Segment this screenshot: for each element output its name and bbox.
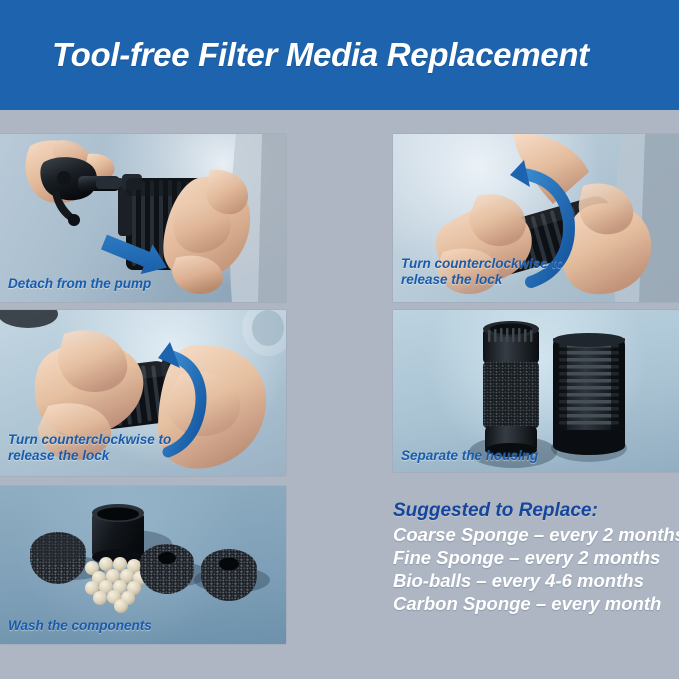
caption-wash: Wash the components bbox=[8, 618, 152, 634]
step-panel-turn-top: Turn counterclockwise to release the loc… bbox=[393, 134, 679, 302]
suggested-replace-heading: Suggested to Replace: bbox=[393, 498, 679, 523]
bio-balls bbox=[85, 557, 147, 613]
caption-turn-top: Turn counterclockwise to release the loc… bbox=[401, 256, 564, 288]
step-panel-detach: Detach from the pump bbox=[0, 134, 286, 302]
replace-item-fine-sponge: Fine Sponge – every 2 months bbox=[393, 546, 679, 569]
caption-separate: Separate the housing bbox=[401, 448, 538, 464]
step-panel-wash: Wash the components bbox=[0, 486, 286, 644]
fine-sponge bbox=[140, 544, 194, 594]
carbon-sponge bbox=[201, 549, 257, 601]
carbon-cup bbox=[92, 504, 144, 565]
header-banner: Tool-free Filter Media Replacement bbox=[0, 0, 679, 110]
replace-item-coarse-sponge: Coarse Sponge – every 2 months bbox=[393, 523, 679, 546]
caption-detach: Detach from the pump bbox=[8, 276, 151, 292]
page-title: Tool-free Filter Media Replacement bbox=[52, 36, 589, 74]
replace-item-bio-balls: Bio-balls – every 4-6 months bbox=[393, 569, 679, 592]
coarse-sponge bbox=[30, 532, 86, 584]
step-panel-turn-left: Turn counterclockwise to release the loc… bbox=[0, 310, 286, 476]
infographic-page: Tool-free Filter Media Replacement bbox=[0, 0, 679, 679]
replace-item-carbon-sponge: Carbon Sponge – every month bbox=[393, 592, 679, 615]
step-panel-separate: Separate the housing bbox=[393, 310, 679, 472]
suggested-replace-block: Suggested to Replace: Coarse Sponge – ev… bbox=[393, 498, 679, 615]
caption-turn-left: Turn counterclockwise to release the loc… bbox=[8, 432, 171, 464]
